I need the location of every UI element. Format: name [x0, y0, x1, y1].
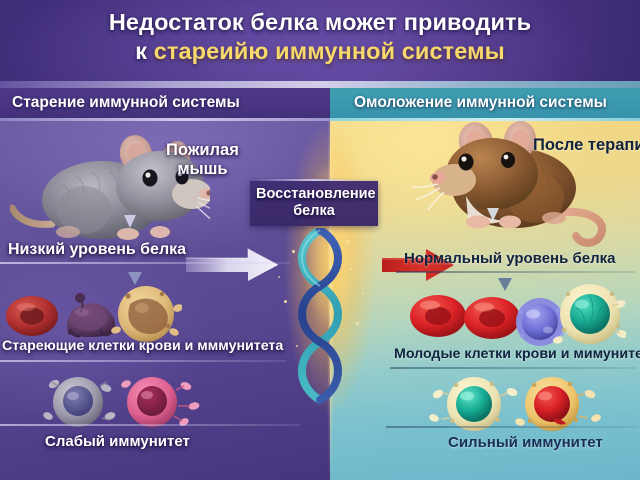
label-weak-immunity: Слабый иммунитет: [45, 433, 190, 450]
pointer-triangle-icon: [128, 272, 142, 285]
immune-cell-aged-beige: [110, 286, 182, 342]
immune-cell-weak-grey: [42, 377, 116, 427]
label-normal-protein-level: Нормальный уровень белка: [404, 250, 615, 267]
label-after-therapy: После терапии: [533, 136, 640, 155]
immune-cell-weak-pink: [120, 377, 200, 427]
section-header-rejuvenation: Омоложение иммунной системы: [330, 88, 640, 118]
immune-cell-green: [552, 284, 626, 345]
divider-right-2: [390, 367, 636, 369]
label-old-mouse-line2: мышь: [166, 160, 239, 179]
divider-left-1: [0, 262, 290, 264]
infographic-poster: Пожилая мышь Низкий уровень белка Старею…: [0, 0, 640, 480]
title-line-2-plain: к: [135, 38, 154, 64]
strong-immune-cells-group: [428, 374, 606, 432]
pointer-triangle-icon: [498, 278, 512, 291]
label-old-mouse: Пожилая мышь: [166, 141, 239, 179]
divider-right-3: [386, 426, 638, 428]
label-aged-cells-caption: Стареющие клетки крови и мммунитета: [2, 338, 283, 354]
dna-double-helix-icon: [288, 228, 352, 404]
weak-immune-cells-group: [34, 372, 206, 430]
young-blood-cells-group: [406, 282, 626, 348]
label-strong-immunity: Сильный иммунитет: [448, 434, 603, 451]
immune-cell-strong-teal: [428, 377, 518, 431]
red-blood-cell-young-1: [410, 295, 466, 337]
title-line-1: Недостаток белка может приводить: [0, 9, 640, 36]
title-line-2: к стареийю иммунной системы: [0, 38, 640, 65]
label-young-cells-caption: Молодые клетки крови и мимунитета: [394, 346, 640, 362]
badge-line2: белка: [256, 203, 372, 220]
badge-protein-restoration: Восстановление белка: [250, 181, 378, 226]
red-blood-cell-aged: [6, 296, 58, 336]
divider-left-2: [0, 360, 286, 362]
section-header-rejuvenation-text: Омоложение иммунной системы: [354, 94, 607, 112]
immune-cell-strong-red: [514, 377, 602, 431]
divider-right-1: [396, 271, 636, 273]
section-header-aging-text: Старение иммунной системы: [12, 94, 240, 112]
red-blood-cell-young-2: [464, 297, 520, 339]
label-low-protein-level: Низкий уровень белка: [8, 241, 186, 259]
immune-cell-aged-purple: [67, 293, 115, 337]
title-banner: Недостаток белка может приводить к старе…: [0, 0, 640, 88]
pointer-triangle-icon: [124, 215, 136, 228]
section-header-aging: Старение иммунной системы: [0, 88, 330, 118]
label-old-mouse-line1: Пожилая: [166, 141, 239, 160]
arrow-aging-icon: [186, 248, 278, 282]
badge-line1: Восстановление: [256, 186, 372, 203]
pointer-triangle-icon: [487, 208, 499, 221]
divider-left-3: [0, 424, 300, 426]
title-line-2-accent: стареийю иммунной системы: [154, 38, 505, 64]
